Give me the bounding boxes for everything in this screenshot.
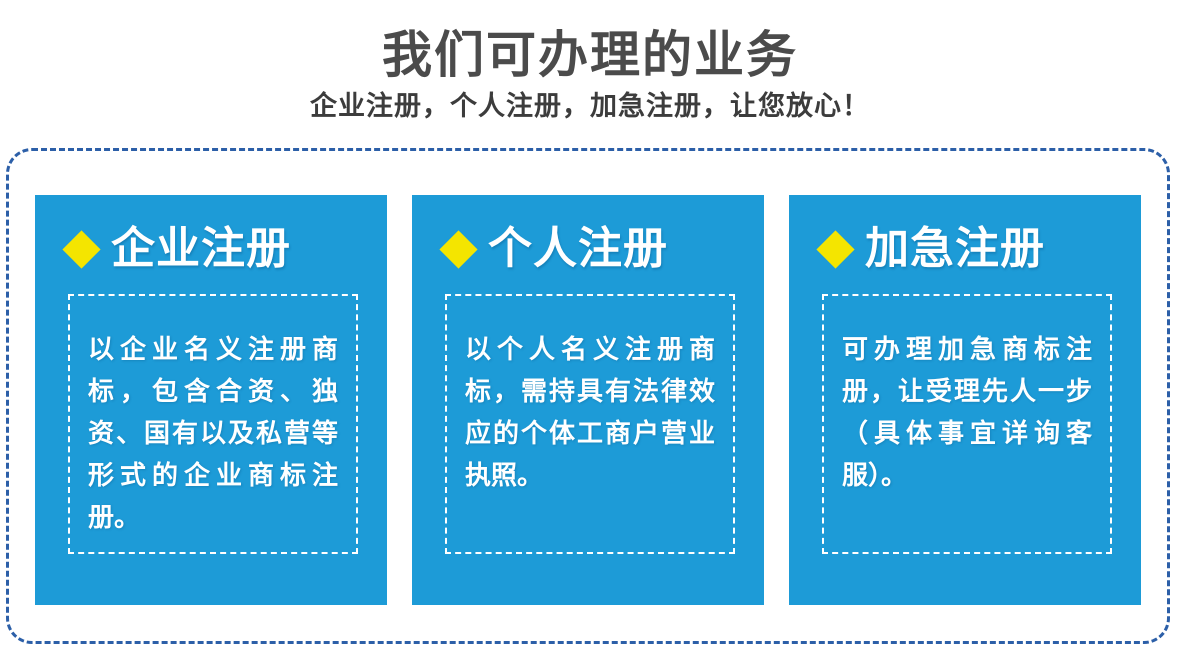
service-card-expedited[interactable]: 加急注册 可办理加急商标注册，让受理先人一步（具体事宜详询客服）。 xyxy=(789,195,1141,605)
yellow-diamond-icon xyxy=(816,230,854,268)
page-title: 我们可办理的业务 xyxy=(0,0,1180,82)
card-title: 个人注册 xyxy=(488,227,668,271)
card-description-box: 以个人名义注册商标，需持具有法律效应的个体工商户营业执照。 xyxy=(445,294,735,554)
banner-header: 我们可办理的业务 企业注册，个人注册，加急注册，让您放心！ xyxy=(0,0,1180,122)
card-heading: 加急注册 xyxy=(789,227,1141,271)
yellow-diamond-icon xyxy=(439,230,477,268)
card-title: 企业注册 xyxy=(111,227,291,271)
card-title: 加急注册 xyxy=(865,227,1045,271)
card-description-box: 以企业名义注册商标，包含合资、独资、国有以及私营等形式的企业商标注册。 xyxy=(68,294,358,554)
card-description: 可办理加急商标注册，让受理先人一步（具体事宜详询客服）。 xyxy=(824,296,1110,496)
card-heading: 个人注册 xyxy=(412,227,764,271)
service-card-enterprise[interactable]: 企业注册 以企业名义注册商标，包含合资、独资、国有以及私营等形式的企业商标注册。 xyxy=(35,195,387,605)
card-description: 以个人名义注册商标，需持具有法律效应的个体工商户营业执照。 xyxy=(447,296,733,496)
page-subtitle: 企业注册，个人注册，加急注册，让您放心！ xyxy=(0,82,1180,122)
yellow-diamond-icon xyxy=(62,230,100,268)
card-description: 以企业名义注册商标，包含合资、独资、国有以及私营等形式的企业商标注册。 xyxy=(70,296,356,539)
card-description-box: 可办理加急商标注册，让受理先人一步（具体事宜详询客服）。 xyxy=(822,294,1112,554)
service-card-list: 企业注册 以企业名义注册商标，包含合资、独资、国有以及私营等形式的企业商标注册。… xyxy=(35,195,1141,605)
card-heading: 企业注册 xyxy=(35,227,387,271)
service-card-individual[interactable]: 个人注册 以个人名义注册商标，需持具有法律效应的个体工商户营业执照。 xyxy=(412,195,764,605)
promo-banner: 我们可办理的业务 企业注册，个人注册，加急注册，让您放心！ 企业注册 以企业名义… xyxy=(0,0,1180,670)
